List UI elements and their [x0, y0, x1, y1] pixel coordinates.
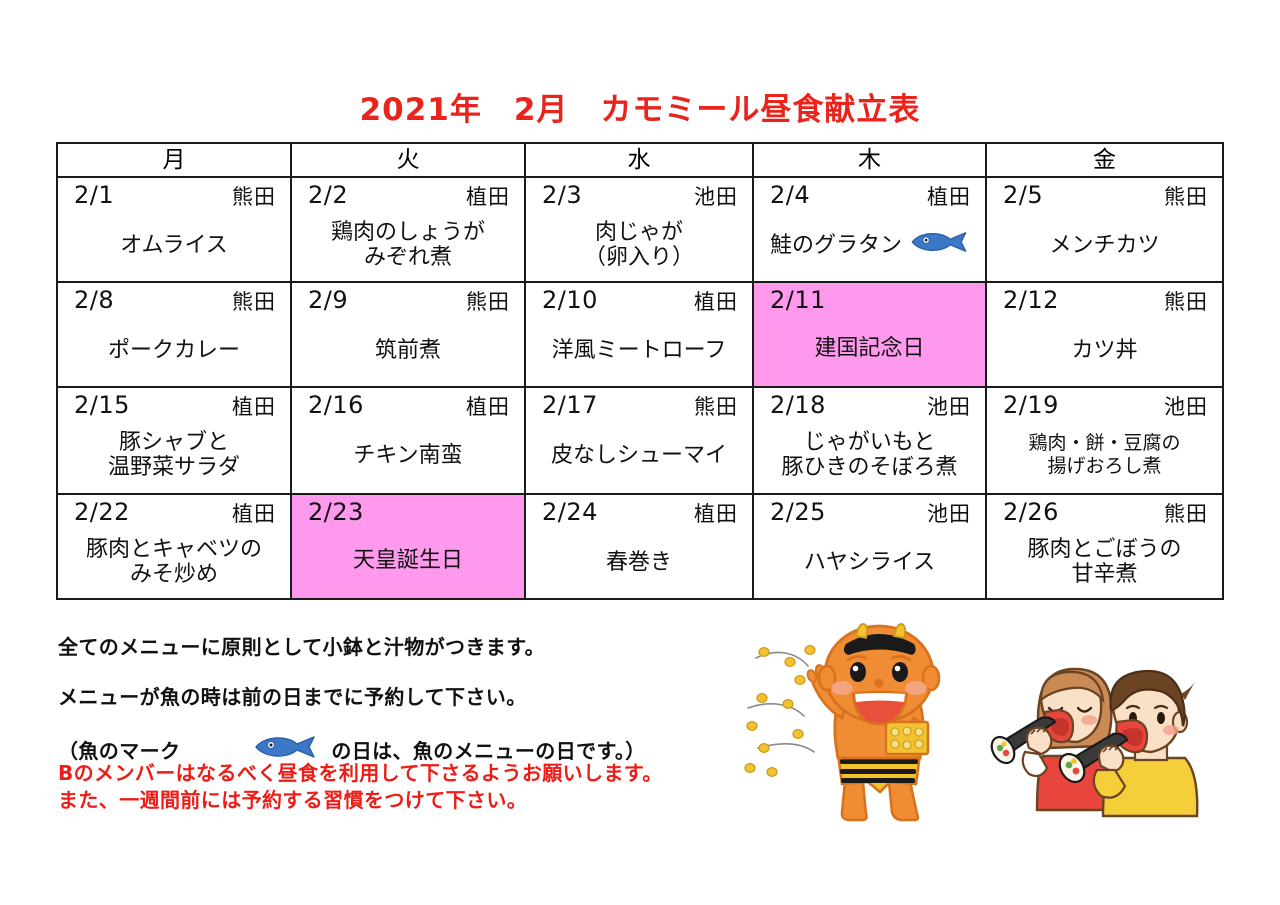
cell-menu: 豚シャブと 温野菜サラダ	[58, 422, 290, 488]
menu-cell-2-4: 2/4植田鮭のグラタン	[753, 177, 986, 282]
cell-date: 2/5	[1003, 180, 1043, 210]
cell-header: 2/8熊田	[58, 283, 290, 317]
menu-cell-2-26: 2/26熊田豚肉とごぼうの 甘辛煮	[986, 494, 1223, 599]
cell-menu: 豚肉とごぼうの 甘辛煮	[987, 529, 1222, 595]
menu-cell-2-11: 2/11建国記念日	[753, 282, 986, 387]
table-header-row: 月 火 水 木 金	[57, 143, 1223, 177]
cell-menu: ポークカレー	[58, 317, 290, 383]
menu-cell-2-3: 2/3池田肉じゃが （卵入り）	[525, 177, 753, 282]
note-red-1: Bのメンバーはなるべく昼食を利用して下さるようお願いします。	[58, 760, 778, 787]
cell-menu: 鶏肉のしょうが みぞれ煮	[292, 212, 524, 278]
cell-date: 2/4	[770, 180, 810, 210]
cell-date: 2/19	[1003, 390, 1059, 420]
table-row: 2/22植田豚肉とキャベツの みそ炒め2/23天皇誕生日2/24植田春巻き2/2…	[57, 494, 1223, 599]
ehomaki-illustration	[985, 660, 1215, 825]
cell-date: 2/2	[308, 180, 348, 210]
cell-staff: 植田	[232, 390, 276, 422]
cell-date: 2/12	[1003, 285, 1059, 315]
cell-header: 2/4植田	[754, 178, 985, 212]
cell-date: 2/26	[1003, 497, 1059, 527]
cell-header: 2/1熊田	[58, 178, 290, 212]
cell-menu: 春巻き	[526, 529, 752, 595]
weekday-header-mon: 月	[57, 143, 291, 177]
cell-menu: 鶏肉・餅・豆腐の 揚げおろし煮	[987, 422, 1222, 488]
cell-staff: 植田	[232, 497, 276, 529]
cell-staff: 熊田	[232, 285, 276, 317]
cell-staff: 植田	[694, 497, 738, 529]
note-line-1: 全てのメニューに原則として小鉢と汁物がつきます。	[58, 634, 758, 660]
cell-menu: 筑前煮	[292, 317, 524, 383]
cell-date: 2/17	[542, 390, 598, 420]
cell-header: 2/10植田	[526, 283, 752, 317]
notes-red-block: Bのメンバーはなるべく昼食を利用して下さるようお願いします。 また、一週間前には…	[58, 760, 778, 814]
cell-staff: 熊田	[694, 390, 738, 422]
menu-cell-2-10: 2/10植田洋風ミートローフ	[525, 282, 753, 387]
cell-header: 2/15植田	[58, 388, 290, 422]
menu-cell-2-2: 2/2植田鶏肉のしょうが みぞれ煮	[291, 177, 525, 282]
cell-date: 2/23	[308, 497, 364, 527]
menu-cell-2-9: 2/9熊田筑前煮	[291, 282, 525, 387]
note-red-2: また、一週間前には予約する習慣をつけて下さい。	[58, 787, 778, 814]
cell-staff: 植田	[466, 180, 510, 212]
cell-date: 2/9	[308, 285, 348, 315]
cell-header: 2/26熊田	[987, 495, 1222, 529]
weekday-header-wed: 水	[525, 143, 753, 177]
note-line-2: メニューが魚の時は前の日までに予約して下さい。	[58, 684, 758, 710]
cell-date: 2/24	[542, 497, 598, 527]
weekday-header-tue: 火	[291, 143, 525, 177]
page-title: 2021年 2月 カモミール昼食献立表	[0, 84, 1280, 129]
cell-menu: 皮なしシューマイ	[526, 422, 752, 488]
cell-header: 2/22植田	[58, 495, 290, 529]
cell-menu: 天皇誕生日	[292, 527, 524, 593]
table-body: 2/1熊田オムライス2/2植田鶏肉のしょうが みぞれ煮2/3池田肉じゃが （卵入…	[57, 177, 1223, 599]
cell-menu: 洋風ミートローフ	[526, 317, 752, 383]
cell-date: 2/3	[542, 180, 582, 210]
cell-menu: チキン南蛮	[292, 422, 524, 488]
menu-cell-2-15: 2/15植田豚シャブと 温野菜サラダ	[57, 387, 291, 494]
cell-header: 2/9熊田	[292, 283, 524, 317]
menu-cell-2-19: 2/19池田鶏肉・餅・豆腐の 揚げおろし煮	[986, 387, 1223, 494]
menu-table: 月 火 水 木 金 2/1熊田オムライス2/2植田鶏肉のしょうが みぞれ煮2/3…	[56, 142, 1224, 600]
cell-header: 2/12熊田	[987, 283, 1222, 317]
menu-cell-2-5: 2/5熊田メンチカツ	[986, 177, 1223, 282]
cell-staff: 池田	[1164, 390, 1208, 422]
cell-date: 2/18	[770, 390, 826, 420]
cell-menu: カツ丼	[987, 317, 1222, 383]
cell-header: 2/18池田	[754, 388, 985, 422]
cell-header: 2/11	[754, 283, 985, 315]
menu-cell-2-24: 2/24植田春巻き	[525, 494, 753, 599]
cell-date: 2/15	[74, 390, 130, 420]
menu-cell-2-23: 2/23天皇誕生日	[291, 494, 525, 599]
oni-mascot-illustration	[742, 622, 992, 832]
cell-staff: 植田	[466, 390, 510, 422]
weekday-header-thu: 木	[753, 143, 986, 177]
cell-staff: 植田	[927, 180, 971, 212]
cell-date: 2/1	[74, 180, 114, 210]
cell-header: 2/5熊田	[987, 178, 1222, 212]
cell-date: 2/8	[74, 285, 114, 315]
cell-date: 2/22	[74, 497, 130, 527]
cell-menu: じゃがいもと 豚ひきのそぼろ煮	[754, 422, 985, 488]
cell-header: 2/16植田	[292, 388, 524, 422]
cell-date: 2/10	[542, 285, 598, 315]
cell-menu: 豚肉とキャベツの みそ炒め	[58, 529, 290, 595]
cell-menu: 建国記念日	[754, 315, 985, 381]
cell-staff: 熊田	[1164, 285, 1208, 317]
cell-menu-text: 鮭のグラタン	[770, 233, 902, 258]
menu-cell-2-18: 2/18池田じゃがいもと 豚ひきのそぼろ煮	[753, 387, 986, 494]
table-row: 2/8熊田ポークカレー2/9熊田筑前煮2/10植田洋風ミートローフ2/11建国記…	[57, 282, 1223, 387]
cell-staff: 池田	[927, 497, 971, 529]
cell-staff: 池田	[694, 180, 738, 212]
table-row: 2/1熊田オムライス2/2植田鶏肉のしょうが みぞれ煮2/3池田肉じゃが （卵入…	[57, 177, 1223, 282]
cell-menu: メンチカツ	[987, 212, 1222, 278]
cell-header: 2/3池田	[526, 178, 752, 212]
menu-cell-2-12: 2/12熊田カツ丼	[986, 282, 1223, 387]
cell-header: 2/19池田	[987, 388, 1222, 422]
cell-date: 2/25	[770, 497, 826, 527]
cell-header: 2/25池田	[754, 495, 985, 529]
fish-icon	[909, 230, 969, 260]
menu-poster: 2021年 2月 カモミール昼食献立表 月 火 水 木 金 2/1熊田オムライス…	[0, 0, 1280, 905]
menu-cell-2-16: 2/16植田チキン南蛮	[291, 387, 525, 494]
cell-staff: 池田	[927, 390, 971, 422]
menu-cell-2-22: 2/22植田豚肉とキャベツの みそ炒め	[57, 494, 291, 599]
cell-header: 2/2植田	[292, 178, 524, 212]
cell-header: 2/23	[292, 495, 524, 527]
cell-staff: 熊田	[232, 180, 276, 212]
cell-header: 2/24植田	[526, 495, 752, 529]
menu-cell-2-25: 2/25池田ハヤシライス	[753, 494, 986, 599]
cell-menu: 肉じゃが （卵入り）	[526, 212, 752, 278]
menu-cell-2-8: 2/8熊田ポークカレー	[57, 282, 291, 387]
cell-staff: 熊田	[1164, 180, 1208, 212]
menu-cell-2-17: 2/17熊田皮なしシューマイ	[525, 387, 753, 494]
cell-date: 2/16	[308, 390, 364, 420]
cell-staff: 熊田	[466, 285, 510, 317]
weekday-header-fri: 金	[986, 143, 1223, 177]
cell-header: 2/17熊田	[526, 388, 752, 422]
cell-menu: オムライス	[58, 212, 290, 278]
cell-staff: 植田	[694, 285, 738, 317]
cell-date: 2/11	[770, 285, 826, 315]
cell-staff: 熊田	[1164, 497, 1208, 529]
cell-menu: 鮭のグラタン	[754, 212, 985, 278]
table-row: 2/15植田豚シャブと 温野菜サラダ2/16植田チキン南蛮2/17熊田皮なしシュ…	[57, 387, 1223, 494]
cell-menu: ハヤシライス	[754, 529, 985, 595]
menu-cell-2-1: 2/1熊田オムライス	[57, 177, 291, 282]
